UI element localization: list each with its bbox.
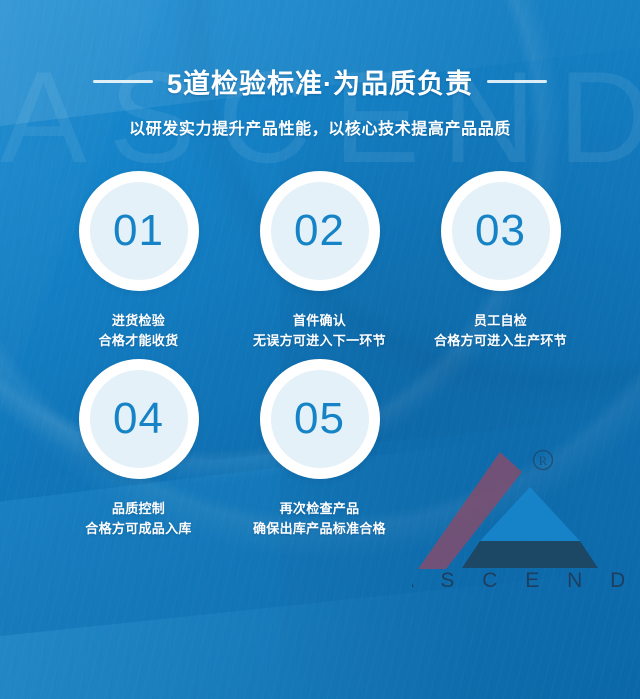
step-item: 01 进货检验 合格才能收货 bbox=[48, 171, 229, 351]
title-rule-right bbox=[487, 80, 547, 83]
step-circle: 01 bbox=[79, 171, 199, 291]
step-number: 03 bbox=[475, 209, 526, 253]
step-number: 04 bbox=[113, 397, 164, 441]
step-circle: 04 bbox=[79, 359, 199, 479]
page-title: 5道检验标准·为品质负责 bbox=[167, 62, 473, 101]
step-caption-line1: 进货检验 bbox=[112, 313, 165, 328]
step-circle: 05 bbox=[260, 359, 380, 479]
step-caption: 进货检验 合格才能收货 bbox=[48, 311, 229, 351]
step-caption-line1: 员工自检 bbox=[474, 313, 527, 328]
step-item: 03 员工自检 合格方可进入生产环节 bbox=[410, 171, 591, 351]
step-item: 05 再次检查产品 确保出库产品标准合格 bbox=[229, 359, 410, 539]
step-caption-line2: 确保出库产品标准合格 bbox=[229, 519, 410, 539]
step-caption-line1: 首件确认 bbox=[293, 313, 346, 328]
step-caption-line2: 合格才能收货 bbox=[48, 331, 229, 351]
step-caption-line1: 品质控制 bbox=[112, 501, 165, 516]
step-caption: 品质控制 合格方可成品入库 bbox=[48, 499, 229, 539]
step-caption-line2: 无误方可进入下一环节 bbox=[229, 331, 410, 351]
title-row: 5道检验标准·为品质负责 bbox=[0, 62, 640, 101]
ascend-logo: R A S C E N D bbox=[412, 444, 624, 594]
svg-text:R: R bbox=[539, 453, 548, 468]
step-item: 02 首件确认 无误方可进入下一环节 bbox=[229, 171, 410, 351]
logo-wordmark: A S C E N D bbox=[412, 569, 624, 592]
step-circle: 03 bbox=[441, 171, 561, 291]
step-number: 01 bbox=[113, 209, 164, 253]
step-item: 04 品质控制 合格方可成品入库 bbox=[48, 359, 229, 539]
step-circle: 02 bbox=[260, 171, 380, 291]
step-caption-line1: 再次检查产品 bbox=[280, 501, 360, 516]
step-caption-line2: 合格方可成品入库 bbox=[48, 519, 229, 539]
logo-navy-base bbox=[462, 541, 598, 568]
step-caption: 再次检查产品 确保出库产品标准合格 bbox=[229, 499, 410, 539]
quality-inspection-banner: ASCEND 5道检验标准·为品质负责 以研发实力提升产品性能，以核心技术提高产… bbox=[0, 0, 640, 699]
step-number: 02 bbox=[294, 209, 345, 253]
registered-mark-icon: R bbox=[534, 451, 553, 470]
step-number: 05 bbox=[294, 397, 345, 441]
page-subtitle: 以研发实力提升产品性能，以核心技术提高产品品质 bbox=[0, 115, 640, 139]
title-rule-left bbox=[93, 80, 153, 83]
step-caption: 员工自检 合格方可进入生产环节 bbox=[410, 311, 591, 351]
step-caption: 首件确认 无误方可进入下一环节 bbox=[229, 311, 410, 351]
header: 5道检验标准·为品质负责 以研发实力提升产品性能，以核心技术提高产品品质 bbox=[0, 0, 640, 139]
step-caption-line2: 合格方可进入生产环节 bbox=[410, 331, 591, 351]
